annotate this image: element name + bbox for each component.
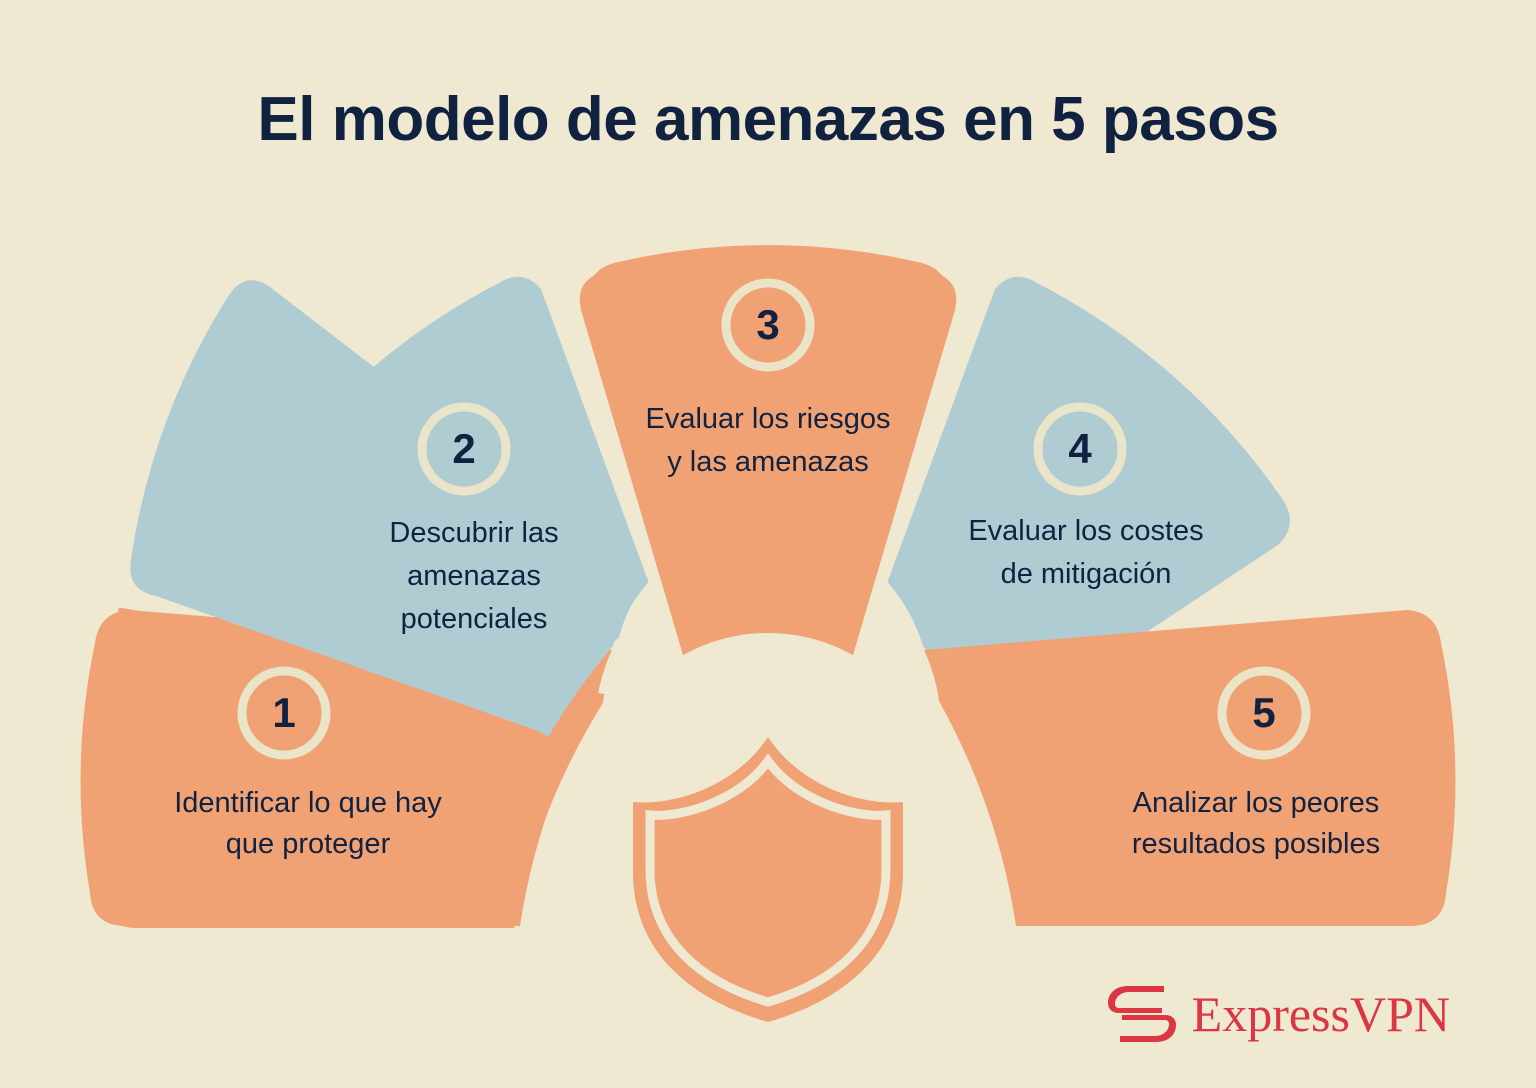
- step-5-number: 5: [1252, 689, 1275, 736]
- step-5-label-line2: resultados posibles: [1132, 828, 1380, 860]
- five-step-fan-diagram: 1 Identificar lo que hay que proteger 2 …: [0, 0, 1536, 1088]
- step-1-label-line2: que proteger: [226, 828, 391, 860]
- fan-segment-5-sector[interactable]: [924, 610, 1455, 926]
- step-2-number: 2: [452, 425, 475, 472]
- step-2-label-line1: Descubrir las: [389, 517, 558, 549]
- fan-segment-5[interactable]: 5 Analizar los peores resultados posible…: [924, 610, 1455, 926]
- step-3-number: 3: [756, 301, 779, 348]
- step-3-label-line1: Evaluar los riesgos: [646, 403, 891, 435]
- shield-icon: [633, 737, 903, 1022]
- shield-outer: [633, 737, 903, 1022]
- step-1-label-line1: Identificar lo que hay: [174, 787, 442, 819]
- expressvpn-logo-text: ExpressVPN: [1192, 989, 1450, 1039]
- expressvpn-mark-icon: [1106, 982, 1178, 1046]
- step-2-label-line2: amenazas: [407, 560, 541, 592]
- infographic-page: El modelo de amenazas en 5 pasos 1 Ident…: [0, 0, 1536, 1088]
- step-1-number: 1: [272, 689, 295, 736]
- step-4-label-line1: Evaluar los costes: [968, 515, 1203, 547]
- step-3-label-line2: y las amenazas: [667, 446, 869, 478]
- step-4-number: 4: [1068, 425, 1092, 472]
- step-4-label-line2: de mitigación: [1001, 558, 1172, 590]
- expressvpn-logo[interactable]: ExpressVPN: [1106, 982, 1450, 1046]
- step-5-label-line1: Analizar los peores: [1133, 787, 1380, 819]
- step-2-label-line3: potenciales: [401, 603, 548, 635]
